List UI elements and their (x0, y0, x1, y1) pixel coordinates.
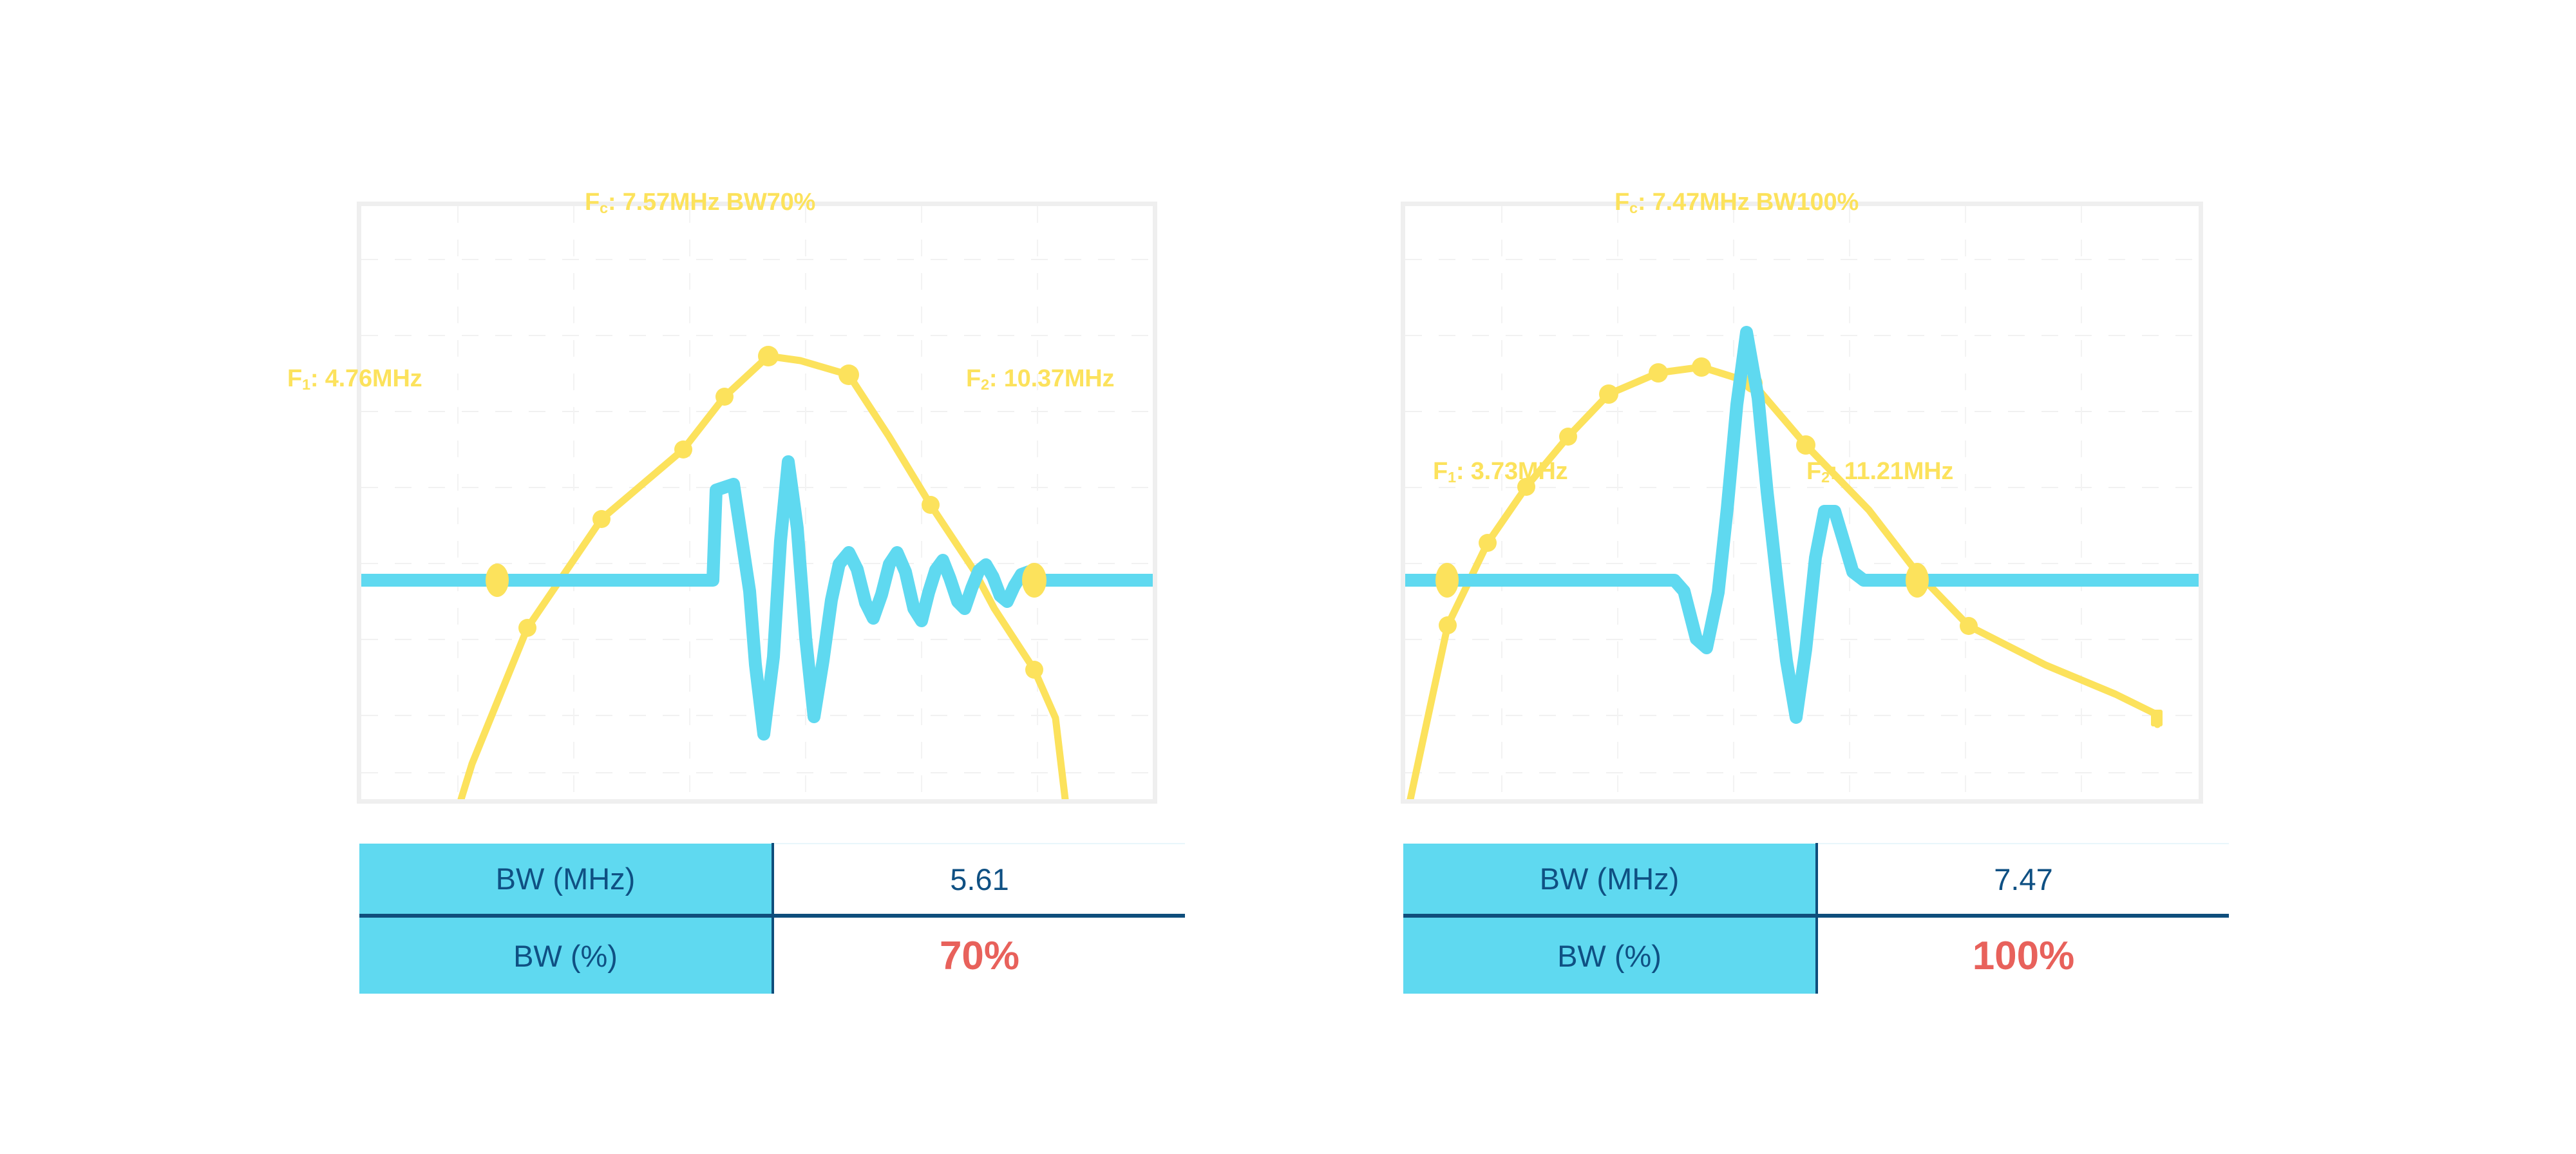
bw-pct-value-left: 70% (773, 916, 1185, 994)
annot-center-right: Fc: 7.47MHz BW100% (1615, 190, 1859, 216)
annot-f1-right: F1: 3.73MHz (1433, 459, 1567, 486)
table-row: BW (%) 70% (359, 916, 1185, 994)
chart-right-svg (1405, 206, 2199, 799)
pulse-waveform-left (361, 462, 1153, 734)
annot-f1-left: F1: 4.76MHz (287, 366, 422, 393)
bw-table-left: BW (MHz) 5.61 BW (%) 70% (359, 843, 1185, 994)
figure-root: Fc: 7.57MHz BW70% F1: 4.76MHz F2: 10.37M… (0, 0, 2576, 1154)
annot-f2-left: F2: 10.37MHz (966, 366, 1114, 393)
chart-left-svg (361, 206, 1153, 799)
bw-pct-value-right: 100% (1817, 916, 2229, 994)
table-row: BW (%) 100% (1403, 916, 2229, 994)
bw-mhz-label-left: BW (MHz) (359, 844, 773, 916)
chart-frame-left (357, 202, 1157, 804)
bw-table-right: BW (MHz) 7.47 BW (%) 100% (1403, 843, 2229, 994)
bw-mhz-value-left: 5.61 (773, 844, 1185, 916)
grid-lines-vertical-left (458, 206, 1037, 799)
annot-center-left: Fc: 7.57MHz BW70% (585, 190, 815, 216)
pulse-waveform-right (1405, 332, 2199, 717)
table-row: BW (MHz) 7.47 (1403, 844, 2229, 916)
bw-pct-label-right: BW (%) (1403, 916, 1817, 994)
panel-right: Fc: 7.47MHz BW100% F1: 3.73MHz F2: 11.21… (1401, 202, 2203, 804)
bw-mhz-value-right: 7.47 (1817, 844, 2229, 916)
table-row: BW (MHz) 5.61 (359, 844, 1185, 916)
panel-left: Fc: 7.57MHz BW70% F1: 4.76MHz F2: 10.37M… (357, 202, 1157, 804)
bw-pct-label-left: BW (%) (359, 916, 773, 994)
bw-mhz-label-right: BW (MHz) (1403, 844, 1817, 916)
annot-f2-right: F2: 11.21MHz (1806, 459, 1953, 486)
chart-frame-right (1401, 202, 2203, 804)
